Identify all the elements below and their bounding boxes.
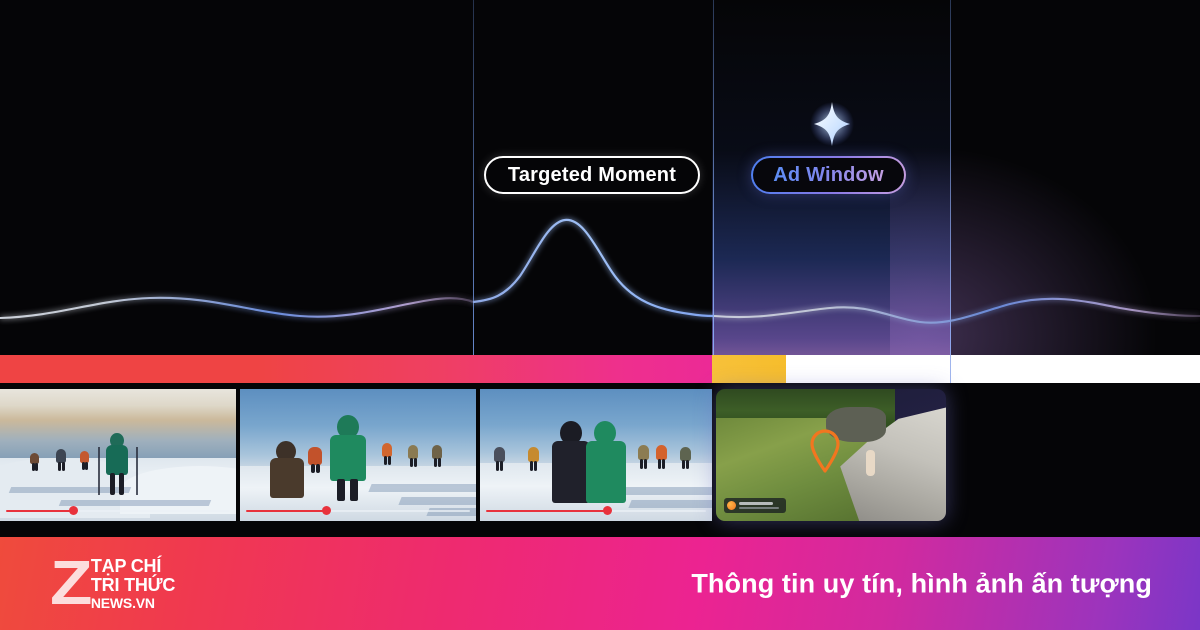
thumbnail-summit-embrace[interactable]: [480, 389, 712, 521]
logo-z-mark: Z: [50, 557, 92, 611]
location-pin-icon: [808, 429, 842, 473]
ad-window-text: Ad Window: [773, 164, 883, 187]
logo-line-2: TRI THỨC: [91, 576, 175, 595]
timeline-segment-ad-slot[interactable]: [712, 355, 786, 383]
footer-banner: Z TẠP CHÍ TRI THỨC NEWS.VN Thông tin uy …: [0, 537, 1200, 630]
ad-brand-icon: [727, 501, 736, 510]
ad-window-label[interactable]: Ad Window: [751, 156, 906, 194]
timeline-bar[interactable]: [0, 355, 1200, 383]
thumbnail-river-ad-placement[interactable]: [716, 389, 946, 521]
in-video-ad-card[interactable]: [724, 498, 786, 513]
thumbnail-progress-bar[interactable]: [246, 510, 470, 513]
logo-line-3: NEWS.VN: [91, 595, 175, 611]
thumbnail-climb-ascent[interactable]: [0, 389, 236, 521]
logo-wordmark: TẠP CHÍ TRI THỨC NEWS.VN: [91, 557, 175, 611]
thumbnail-progress-bar[interactable]: [6, 510, 230, 513]
site-logo[interactable]: Z TẠP CHÍ TRI THỨC NEWS.VN: [50, 555, 175, 613]
promo-graphic: Targeted Moment Ad Window: [0, 0, 1200, 630]
thumbnail-summit-proposal[interactable]: [240, 389, 476, 521]
footer-tagline: Thông tin uy tín, hình ảnh ấn tượng: [691, 568, 1152, 599]
video-thumbnail-strip: [0, 389, 1200, 521]
timeline-segment-remaining[interactable]: [786, 355, 1200, 383]
timeline-end-marker: [950, 355, 951, 383]
thumbnail-progress-bar[interactable]: [486, 510, 706, 513]
logo-line-1: TẠP CHÍ: [91, 557, 175, 576]
timeline-segment-content[interactable]: [0, 355, 712, 383]
targeted-moment-text: Targeted Moment: [508, 164, 676, 187]
ad-card-text-lines: [739, 502, 783, 509]
sparkle-icon: [806, 98, 858, 150]
targeted-moment-label[interactable]: Targeted Moment: [484, 156, 700, 194]
